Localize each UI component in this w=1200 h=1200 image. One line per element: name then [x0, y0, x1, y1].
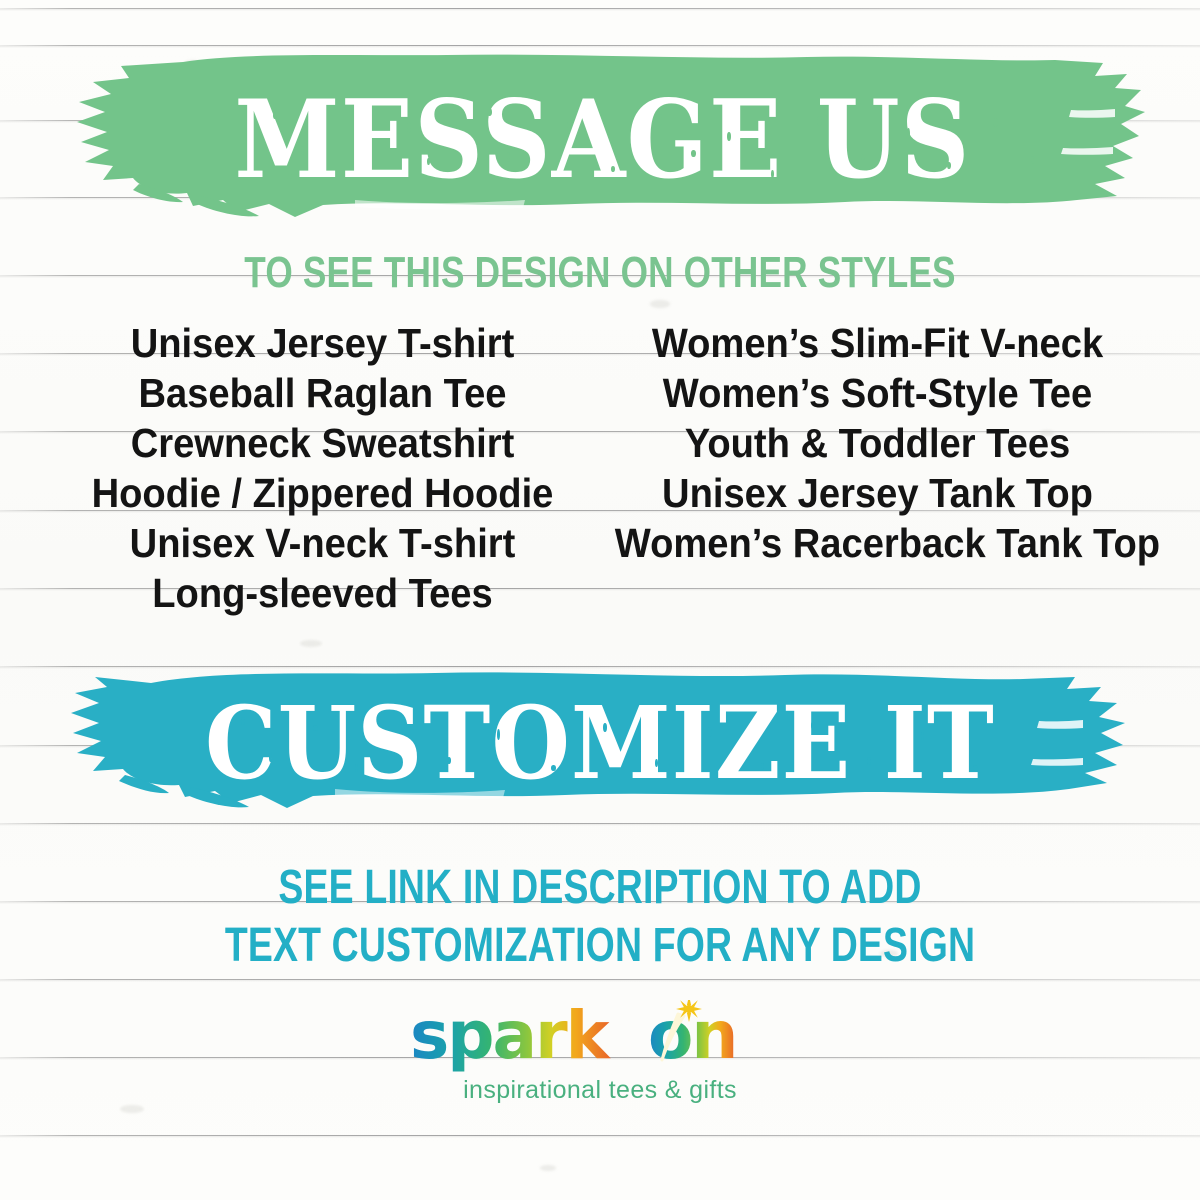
product-styles-section: Unisex Jersey T-shirt Baseball Raglan Te…	[0, 318, 1200, 618]
list-item: Long-sleeved Tees	[78, 568, 566, 618]
spark-on-wordmark: spark on	[410, 1000, 790, 1080]
logo-tagline: inspirational tees & gifts	[0, 1076, 1200, 1105]
promo-graphic: MESSAGE US TO SEE THIS DESIGN ON OTHER S…	[0, 0, 1200, 1200]
message-us-banner: MESSAGE US	[55, 50, 1150, 235]
message-us-subheading: TO SEE THIS DESIGN ON OTHER STYLES	[120, 248, 1080, 298]
list-item: Unisex Jersey T-shirt	[78, 318, 566, 368]
list-item: Unisex V-neck T-shirt	[78, 518, 566, 568]
list-item: Women’s Racerback Tank Top	[615, 518, 1140, 568]
brand-logo: spark on inspirational tees & gifts	[0, 1000, 1200, 1120]
customize-line-1: SEE LINK IN DESCRIPTION TO ADD	[132, 860, 1068, 915]
message-us-label: MESSAGE US	[121, 50, 1085, 235]
customize-it-label: CUSTOMIZE IT	[110, 665, 1091, 825]
list-item: Youth & Toddler Tees	[615, 418, 1140, 468]
list-item: Crewneck Sweatshirt	[78, 418, 566, 468]
customize-line-2: TEXT CUSTOMIZATION FOR ANY DESIGN	[132, 918, 1068, 973]
list-item: Baseball Raglan Tee	[78, 368, 566, 418]
style-column-right: Women’s Slim-Fit V-neck Women’s Soft-Sty…	[595, 318, 1160, 568]
list-item: Unisex Jersey Tank Top	[615, 468, 1140, 518]
list-item: Hoodie / Zippered Hoodie	[78, 468, 566, 518]
customize-it-banner: CUSTOMIZE IT	[55, 665, 1145, 825]
style-column-left: Unisex Jersey T-shirt Baseball Raglan Te…	[60, 318, 585, 618]
logo-word-spark: spark	[410, 1000, 612, 1074]
list-item: Women’s Soft-Style Tee	[615, 368, 1140, 418]
list-item: Women’s Slim-Fit V-neck	[615, 318, 1140, 368]
